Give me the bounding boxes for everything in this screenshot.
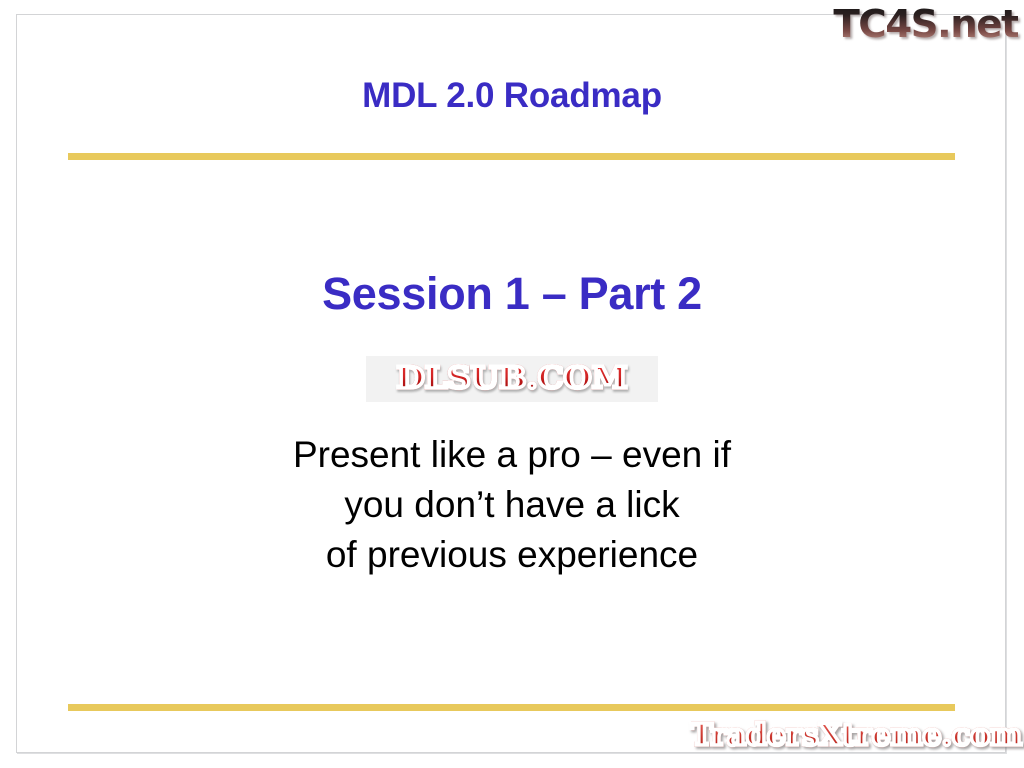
watermark-dlsub-com-text: DLSUB.COM [396,364,627,394]
slide-canvas: MDL 2.0 Roadmap Session 1 – Part 2 DLSUB… [0,0,1024,768]
watermark-dlsub-com: DLSUB.COM [366,356,658,402]
body-line-2: you don’t have a lick [0,480,1024,530]
divider-rule-top [68,153,955,160]
slide-title: MDL 2.0 Roadmap [0,76,1024,116]
watermark-tc4s-net: TC4S.net [833,2,1018,46]
session-heading: Session 1 – Part 2 [0,268,1024,320]
body-line-3: of previous experience [0,530,1024,580]
body-line-1: Present like a pro – even if [0,430,1024,480]
slide-body-text: Present like a pro – even if you don’t h… [0,430,1024,580]
divider-rule-bottom [68,704,955,711]
watermark-tradersxtreme-com: TradersXtreme.com [691,718,1022,754]
